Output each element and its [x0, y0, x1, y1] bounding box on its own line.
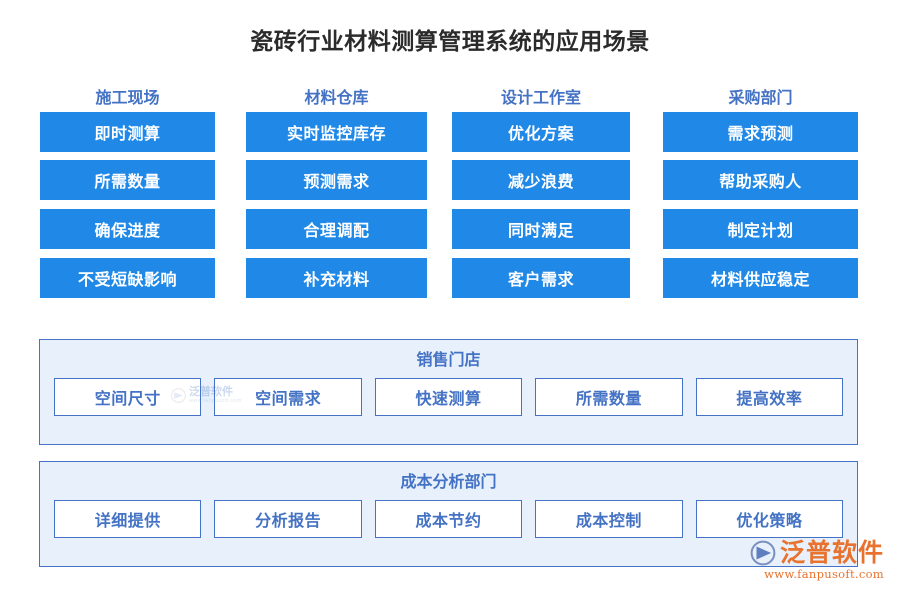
panel-sales-store: 销售门店 空间尺寸 空间需求 快速测算 所需数量 提高效率: [39, 339, 858, 445]
brand-url: www.fanpusoft.com: [724, 567, 884, 581]
panel-item[interactable]: 快速测算: [375, 378, 522, 416]
scenario-chip[interactable]: 合理调配: [246, 209, 427, 249]
scenario-column-construction-site: 施工现场 即时测算 所需数量 确保进度 不受短缺影响: [40, 88, 215, 306]
panel-item[interactable]: 提高效率: [696, 378, 843, 416]
column-header: 施工现场: [40, 88, 215, 112]
page-title: 瓷砖行业材料测算管理系统的应用场景: [0, 22, 900, 56]
column-header: 采购部门: [663, 88, 858, 112]
scenario-chip[interactable]: 预测需求: [246, 160, 427, 200]
panel-items-row: 详细提供 分析报告 成本节约 成本控制 优化策略: [40, 500, 857, 538]
scenario-chip[interactable]: 实时监控库存: [246, 112, 427, 152]
column-header: 设计工作室: [452, 88, 630, 112]
application-scenarios-diagram: 瓷砖行业材料测算管理系统的应用场景 施工现场 即时测算 所需数量 确保进度 不受…: [0, 0, 900, 600]
scenario-chip[interactable]: 同时满足: [452, 209, 630, 249]
scenario-columns-grid: 施工现场 即时测算 所需数量 确保进度 不受短缺影响 材料仓库 实时监控库存 预…: [0, 88, 900, 318]
scenario-chip[interactable]: 优化方案: [452, 112, 630, 152]
scenario-chip[interactable]: 帮助采购人: [663, 160, 858, 200]
panel-item[interactable]: 空间需求: [214, 378, 361, 416]
panel-item[interactable]: 分析报告: [214, 500, 361, 538]
scenario-chip[interactable]: 所需数量: [40, 160, 215, 200]
panel-item[interactable]: 成本节约: [375, 500, 522, 538]
column-header: 材料仓库: [246, 88, 427, 112]
panel-title: 成本分析部门: [40, 471, 857, 493]
panel-item[interactable]: 详细提供: [54, 500, 201, 538]
scenario-chip[interactable]: 需求预测: [663, 112, 858, 152]
scenario-chip[interactable]: 减少浪费: [452, 160, 630, 200]
scenario-chip[interactable]: 客户需求: [452, 258, 630, 298]
panel-item[interactable]: 空间尺寸: [54, 378, 201, 416]
brand-name: 泛普软件: [780, 540, 884, 566]
panel-item[interactable]: 优化策略: [696, 500, 843, 538]
scenario-column-material-warehouse: 材料仓库 实时监控库存 预测需求 合理调配 补充材料: [246, 88, 427, 306]
scenario-column-procurement-department: 采购部门 需求预测 帮助采购人 制定计划 材料供应稳定: [663, 88, 858, 306]
panel-item[interactable]: 所需数量: [535, 378, 682, 416]
scenario-chip[interactable]: 不受短缺影响: [40, 258, 215, 298]
panel-item[interactable]: 成本控制: [535, 500, 682, 538]
scenario-chip[interactable]: 补充材料: [246, 258, 427, 298]
brand-logo: 泛普软件 www.fanpusoft.com: [724, 540, 884, 586]
panel-title: 销售门店: [40, 349, 857, 371]
scenario-column-design-studio: 设计工作室 优化方案 减少浪费 同时满足 客户需求: [452, 88, 630, 306]
scenario-chip[interactable]: 确保进度: [40, 209, 215, 249]
brand-swoosh-icon: [750, 540, 776, 566]
panel-items-row: 空间尺寸 空间需求 快速测算 所需数量 提高效率: [40, 378, 857, 416]
scenario-chip[interactable]: 制定计划: [663, 209, 858, 249]
scenario-chip[interactable]: 即时测算: [40, 112, 215, 152]
scenario-chip[interactable]: 材料供应稳定: [663, 258, 858, 298]
